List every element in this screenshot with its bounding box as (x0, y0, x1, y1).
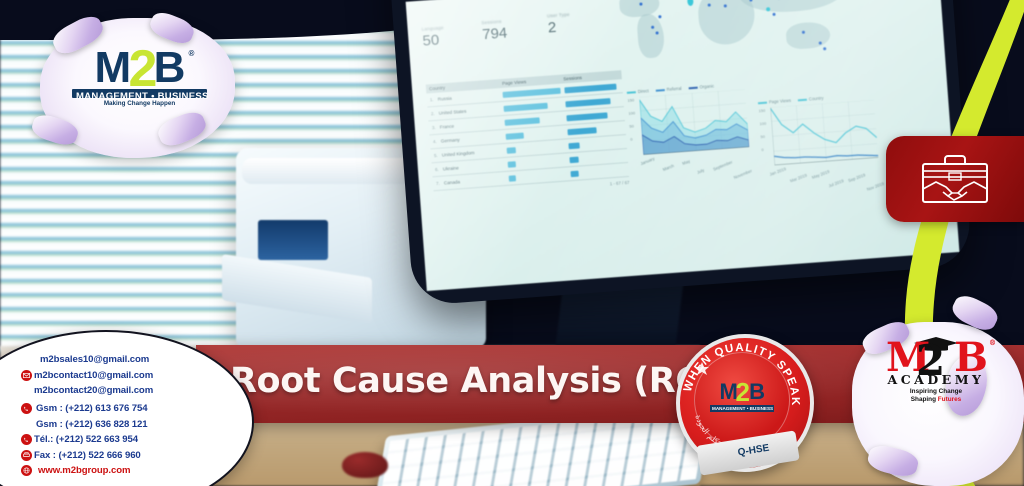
area-chart-y-axis: 150 100 50 0 (627, 97, 637, 149)
contact-row-email3[interactable]: m2bcontact20@gmail.com (18, 383, 228, 398)
area-x-tick: January (640, 156, 656, 166)
area-x-tick: May (681, 158, 690, 166)
row-sessions-bar (569, 156, 578, 163)
line-x-tick: May 2019 (811, 169, 830, 180)
logo-letter-b: B (154, 43, 185, 92)
row-country: Germany (441, 134, 507, 144)
printer-paper-tray (222, 254, 372, 324)
area-x-tick: July (696, 167, 705, 174)
line-x-tick: Jul 2019 (828, 178, 845, 188)
m2b-academy-logo[interactable]: M2B 2 ® ACADEMY Inspiring Change Shaping… (866, 340, 1006, 403)
kpi-language-label: Language (421, 25, 443, 32)
line-x-tick: Jan 2019 (769, 166, 787, 177)
contact-row-gsm1[interactable]: Gsm : (+212) 613 676 754 (18, 401, 228, 416)
kpi-language: Language 50 (421, 25, 445, 49)
row-page-views-bar (503, 87, 561, 97)
contact-row-email2[interactable]: m2bcontact10@gmail.com (18, 367, 228, 382)
logo-digit-2: 2 (129, 46, 157, 94)
line-x-tick: Mar 2019 (789, 173, 807, 184)
contact-fax[interactable]: Fax : (+212) 522 666 960 (34, 450, 141, 461)
row-page-views-bar (507, 147, 516, 154)
page-title: Root Cause Analysis (RCA) (230, 361, 743, 401)
envelope-icon (18, 370, 34, 381)
kpi-sessions: Sessions 794 (481, 18, 508, 42)
contact-row-fax[interactable]: Fax : (+212) 522 666 960 (18, 447, 228, 462)
row-page-views-bar (506, 132, 524, 139)
contact-tel[interactable]: Tél.: (+212) 522 663 954 (34, 434, 138, 445)
seal-digit-2: 2 (736, 381, 750, 404)
line-chart: Page Views Country 150 100 50 0 (758, 91, 889, 200)
line-chart-plot (770, 100, 878, 165)
kpi-user-type-value: 2 (547, 19, 571, 36)
area-x-tick: September (712, 159, 733, 171)
row-country: France (440, 120, 506, 130)
kpi-user-type: User Type 2 (547, 12, 571, 36)
m2b-brand-logo[interactable]: M2B 2 ® MANAGEMENT • BUSINESS Making Cha… (72, 48, 207, 107)
kpi-language-value: 50 (422, 32, 445, 49)
briefcase-badge[interactable] (886, 136, 1024, 222)
row-sessions-bar (567, 127, 596, 135)
seal-letter-b: B (749, 379, 764, 404)
analytics-dashboard: 203 Language 50 Sessions 794 User Type 2 (406, 0, 960, 291)
line-chart-y-axis: 150 100 50 0 (758, 108, 768, 160)
row-page-views-bar (508, 161, 516, 168)
row-page-views-bar (509, 175, 516, 181)
academy-tagline-1: Inspiring Change (866, 388, 1006, 395)
logo-letter-m: M (95, 43, 131, 92)
m2b-wordmark: M2B 2 ® (95, 48, 185, 88)
row-country: Ukraine (443, 162, 509, 172)
contact-gsm-2[interactable]: Gsm : (+212) 636 828 121 (36, 419, 147, 430)
row-page-views-bar (505, 117, 540, 126)
seal-m2b-logo: M2B 2 MANAGEMENT • BUSINESS (710, 382, 774, 412)
line-x-tick: Nov 2019 (866, 181, 885, 192)
academy-letter-b: B (954, 334, 986, 381)
phone-icon (18, 403, 34, 414)
row-country: Canada (444, 176, 510, 186)
contact-row-email1[interactable]: m2bsales10@gmail.com (18, 352, 228, 367)
registered-mark: ® (189, 50, 194, 57)
row-country: Russia (438, 92, 504, 102)
area-chart: Direct Referral Organic 150 100 50 0 (627, 81, 758, 190)
kpi-sessions-value: 794 (482, 25, 508, 42)
row-page-views-bar (504, 102, 548, 111)
printer-slot (258, 220, 328, 260)
legend-item-referral: Referral (656, 86, 682, 93)
row-sessions-bar (570, 170, 578, 177)
legend-item-direct: Direct (627, 88, 649, 95)
area-x-tick: November (733, 168, 753, 180)
mouse-photo (342, 452, 388, 478)
row-country: United Kingdom (442, 148, 508, 158)
computer-monitor: 203 Language 50 Sessions 794 User Type 2 (388, 0, 973, 306)
academy-tagline-2: Shaping Futures (866, 396, 1006, 403)
row-country: United States (439, 106, 505, 116)
dashboard-screen: 203 Language 50 Sessions 794 User Type 2 (406, 0, 960, 291)
academy-wordmark: M2B 2 ® (886, 340, 986, 376)
academy-tagline-2b: Futures (938, 396, 961, 403)
row-sessions-bar (564, 83, 616, 93)
seal-ribbon-text: Q-HSE (737, 443, 770, 459)
globe-icon (18, 465, 34, 476)
row-sessions-bar (568, 142, 579, 149)
line-x-tick: Sep 2019 (847, 172, 866, 183)
country-table[interactable]: Country Page Views Sessions 1. Russia 2.… (426, 70, 630, 199)
contact-row-website[interactable]: www.m2bgroup.com (18, 463, 228, 478)
contact-row-gsm2[interactable]: Gsm : (+212) 636 828 121 (18, 417, 228, 432)
phone-icon (18, 434, 34, 445)
fax-icon (18, 450, 34, 461)
registered-mark: ® (989, 340, 994, 346)
kpi-user-type-label: User Type (547, 12, 570, 19)
area-chart-plot (639, 89, 749, 155)
academy-digit-2: 2 (916, 342, 943, 380)
contact-email-1[interactable]: m2bsales10@gmail.com (40, 354, 149, 365)
world-map (609, 0, 875, 75)
legend-item-country: Country (798, 95, 824, 102)
contact-email-2[interactable]: m2bcontact10@gmail.com (34, 370, 153, 381)
quality-seal-badge[interactable]: WHEN QUALITY SPEAK عندما تتكلم الجودة M2… (668, 330, 814, 476)
poster-canvas: 203 Language 50 Sessions 794 User Type 2 (0, 0, 1024, 486)
area-x-tick: March (662, 163, 675, 172)
legend-item-page-views: Page Views (758, 98, 791, 105)
row-sessions-bar (566, 112, 607, 121)
contact-row-tel[interactable]: Tél.: (+212) 522 663 954 (18, 432, 228, 447)
contact-gsm-1[interactable]: Gsm : (+212) 613 676 754 (36, 403, 147, 414)
contact-list: m2bsales10@gmail.com m2bcontact10@gmail.… (18, 352, 228, 478)
row-sessions-bar (565, 98, 610, 107)
legend-item-organic: Organic (688, 83, 714, 90)
contact-email-3[interactable]: m2bcontact20@gmail.com (34, 385, 153, 396)
kpi-top-value: 203 (575, 0, 603, 3)
contact-website[interactable]: www.m2bgroup.com (38, 465, 130, 476)
briefcase-handshake-icon (918, 151, 992, 207)
academy-tagline-2a: Shaping (911, 396, 938, 403)
seal-wordmark: M2B 2 (720, 382, 765, 402)
